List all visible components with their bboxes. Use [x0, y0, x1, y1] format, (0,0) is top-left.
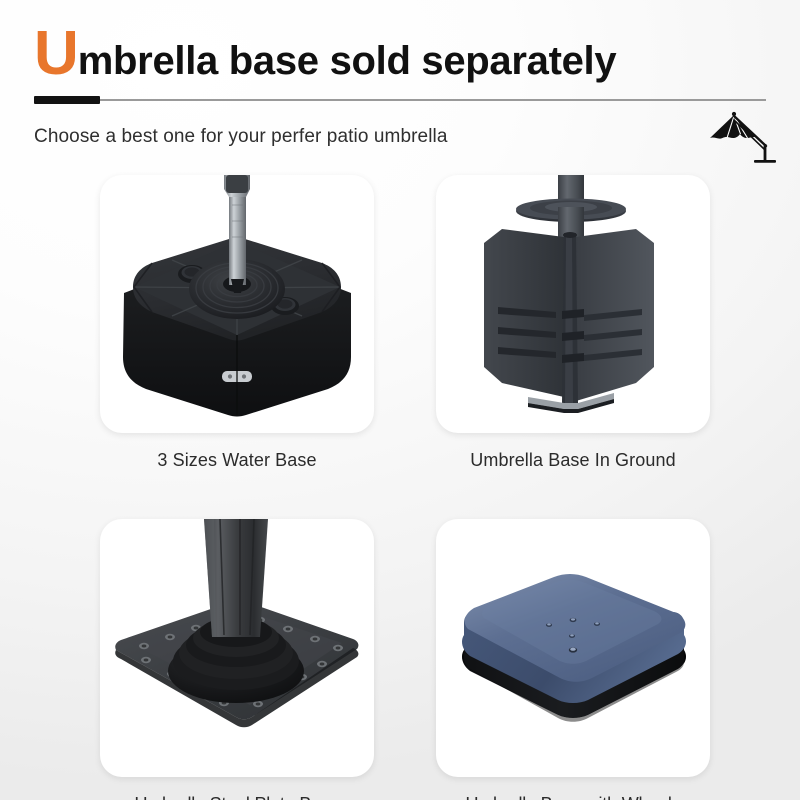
product-row-2: Umbrella Steel Plate Base [100, 519, 710, 800]
title-divider [34, 96, 766, 104]
title-text: mbrella base sold separately [78, 39, 617, 83]
product-card[interactable] [100, 519, 374, 777]
product-cell-base-with-wheels: Umbrella Base with Wheels [436, 519, 710, 800]
product-row-1: 3 Sizes Water Base [100, 175, 710, 471]
product-cell-in-ground-base: Umbrella Base In Ground [436, 175, 710, 471]
in-ground-anchor-umbrella-base-photo [436, 175, 710, 433]
product-card[interactable] [100, 175, 374, 433]
divider-accent-bar [34, 96, 100, 104]
promo-banner: Umbrella base sold separately Choose a b… [0, 0, 800, 800]
product-card[interactable] [436, 175, 710, 433]
page-subtitle: Choose a best one for your perfer patio … [34, 126, 766, 148]
header: Umbrella base sold separately Choose a b… [34, 26, 766, 148]
product-caption: Umbrella Base with Wheels [436, 794, 710, 800]
steel-plate-umbrella-base-photo [100, 519, 374, 777]
product-card[interactable] [436, 519, 710, 777]
product-caption: Umbrella Base In Ground [436, 450, 710, 471]
product-caption: Umbrella Steel Plate Base [100, 794, 374, 800]
cantilever-umbrella-icon [704, 108, 776, 166]
product-cell-steel-plate-base: Umbrella Steel Plate Base [100, 519, 374, 800]
page-title: Umbrella base sold separately [34, 26, 766, 92]
product-grid: 3 Sizes Water Base [100, 175, 710, 800]
product-caption: 3 Sizes Water Base [100, 450, 374, 471]
title-initial: U [34, 19, 78, 88]
rolling-umbrella-base-with-wheels-photo [436, 519, 710, 777]
divider-thin-line [34, 99, 766, 101]
product-cell-water-base: 3 Sizes Water Base [100, 175, 374, 471]
water-filled-square-umbrella-base-photo [100, 175, 374, 433]
